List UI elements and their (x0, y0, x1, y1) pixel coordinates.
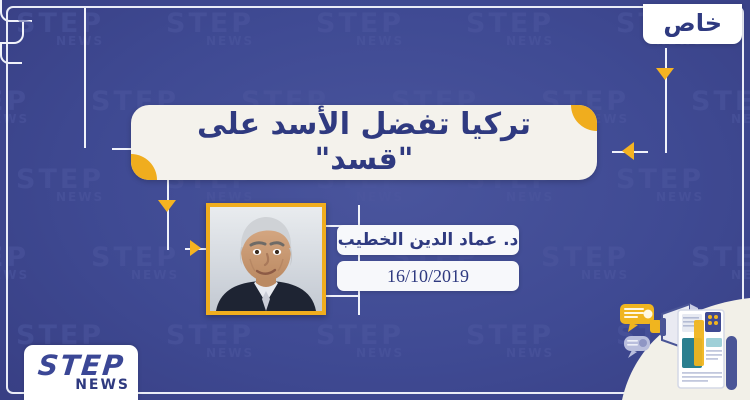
watermark-sub: NEWS (691, 113, 750, 125)
watermark-text: STEP (616, 322, 704, 349)
connector-bracket-bottom-stem (358, 293, 360, 315)
connector-line-title-vertical (167, 178, 169, 250)
watermark-text: STEP (91, 244, 179, 271)
chat-bubble-yellow-icon (620, 304, 654, 332)
watermark-text: STEP (691, 244, 750, 271)
watermark-sub: NEWS (316, 347, 404, 359)
watermark-sub: NEWS (316, 191, 404, 203)
watermark-sub: NEWS (466, 191, 554, 203)
author-name: د. عماد الدين الخطيب (338, 230, 519, 250)
watermark-sub: NEWS (166, 347, 254, 359)
watermark-text: STEP (0, 244, 29, 271)
watermark-sub: NEWS (91, 269, 179, 281)
card-border-frame (6, 6, 744, 394)
connector-elbow-title (0, 44, 22, 64)
connector-bracket-top-stem (358, 205, 360, 227)
watermark-text: STEP (466, 322, 554, 349)
watermark-text: STEP (616, 166, 704, 193)
connector-line-left-vertical (84, 8, 86, 148)
watermark-text: STEP (691, 88, 750, 115)
watermark-sub: NEWS (166, 35, 254, 47)
arrow-down-icon (158, 200, 176, 212)
exclusive-badge-label: خاص (663, 11, 722, 35)
megaphone-icon (650, 304, 698, 350)
watermark-text: STEP (0, 88, 29, 115)
logo-line-step: STEP (36, 353, 126, 380)
publish-date: 16/10/2019 (387, 266, 469, 287)
arrow-left-icon (622, 142, 634, 160)
watermark-sub: NEWS (316, 35, 404, 47)
megaphone-news-illustration (594, 290, 750, 400)
connector-elbow-badge (0, 22, 24, 44)
watermark-sub: NEWS (616, 191, 704, 203)
watermark-sub: NEWS (466, 35, 554, 47)
watermark-text: STEP (466, 10, 554, 37)
connector-line-badge-vertical (665, 48, 667, 153)
watermark-sub: NEWS (0, 269, 29, 281)
rolled-paper-icon (726, 336, 737, 390)
chat-bubble-gray-icon (624, 336, 650, 358)
watermark-sub: NEWS (166, 191, 254, 203)
author-name-pill: د. عماد الدين الخطيب (337, 225, 519, 255)
arrow-right-icon (190, 240, 201, 256)
watermark-text: STEP (541, 244, 629, 271)
watermark-text: STEP (316, 10, 404, 37)
watermark-text: STEP (316, 322, 404, 349)
publish-date-pill: 16/10/2019 (337, 261, 519, 291)
arrow-down-icon (656, 68, 674, 80)
step-news-logo: STEP NEWS (24, 345, 138, 400)
watermark-sub: NEWS (16, 191, 104, 203)
news-card: STEPNEWS STEPNEWS STEPNEWS STEPNEWS STEP… (0, 0, 750, 400)
page-title: تركيا تفضل الأسد على "قسد" (131, 108, 597, 177)
watermark-sub: NEWS (0, 113, 29, 125)
watermark-sub: NEWS (616, 347, 704, 359)
author-portrait (206, 203, 326, 315)
watermark-sub: NEWS (466, 347, 554, 359)
watermark-text: STEP (166, 322, 254, 349)
connector-elbow-left (0, 0, 32, 22)
watermark-sub: NEWS (541, 269, 629, 281)
watermark-text: STEP (16, 166, 104, 193)
watermark-sub: NEWS (16, 35, 104, 47)
watermark-text: STEP (166, 10, 254, 37)
watermark-pattern: STEPNEWS STEPNEWS STEPNEWS STEPNEWS STEP… (0, 0, 750, 400)
watermark-sub: NEWS (691, 269, 750, 281)
headline-panel: تركيا تفضل الأسد على "قسد" (131, 105, 597, 180)
highlight-bar-icon (694, 320, 704, 366)
exclusive-badge: خاص (643, 4, 742, 44)
news-document-icon (678, 310, 724, 388)
